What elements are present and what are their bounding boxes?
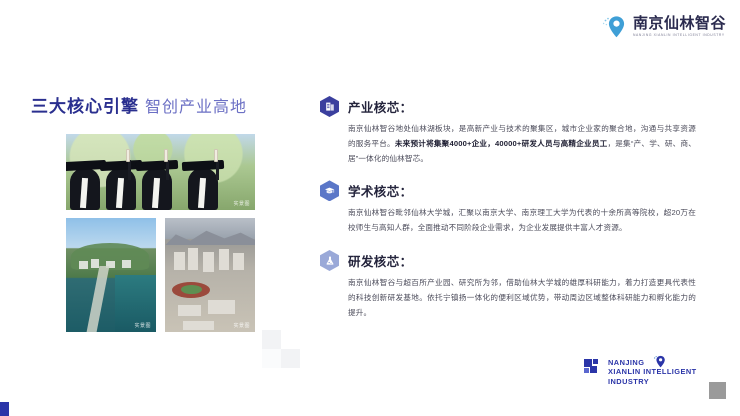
location-pin-icon — [601, 14, 627, 40]
content-block-rnd: 研发核芯： 南京仙林智谷与超百所产业园、研究所为邻，借助仙林大学城的雄厚科研能力… — [320, 250, 696, 320]
research-flask-icon — [320, 250, 339, 271]
decorative-square — [262, 330, 281, 349]
aerial-campus-city-photo: 实景图 — [165, 218, 255, 332]
brand-bottom-text: NANJING XIANLIN INTELLIGENT INDUSTRY — [608, 358, 697, 386]
brand-logo-top: 南京仙林智谷 NANJING XIANLIN INTELLIGENT INDUS… — [601, 14, 726, 40]
photo-collage: 实景图 实景图 实景图 — [66, 134, 255, 332]
block-title: 学术核芯： — [348, 181, 413, 200]
page-title-light: 智创产业高地 — [145, 99, 247, 116]
content-block-academic: 学术核芯： 南京仙林智谷毗邻仙林大学城，汇聚以南京大学、南京理工大学为代表的十余… — [320, 180, 696, 236]
brand-name-en: NANJING XIANLIN INTELLIGENT INDUSTRY — [633, 34, 731, 37]
graduation-cap-icon — [320, 180, 339, 201]
location-pin-icon — [653, 355, 666, 371]
industry-building-icon — [320, 96, 339, 117]
content-block-industry: 产业核芯： 南京仙林智谷地处仙林湖板块，是高新产业与技术的聚集区，城市企业家的聚… — [320, 96, 696, 166]
photo-watermark: 实景图 — [233, 200, 250, 207]
content-column: 产业核芯： 南京仙林智谷地处仙林湖板块，是高新产业与技术的聚集区，城市企业家的聚… — [320, 96, 696, 320]
block-title: 产业核芯： — [348, 97, 413, 116]
corner-gray-square — [709, 382, 726, 399]
photo-row-lower: 实景图 实景图 — [66, 218, 255, 332]
brand-bottom-line1: NANJING — [608, 358, 644, 367]
brand-bottom-line3: INDUSTRY — [608, 377, 649, 386]
block-body: 南京仙林智谷与超百所产业园、研究所为邻，借助仙林大学城的雄厚科研能力，着力打造更… — [320, 276, 696, 320]
graduation-ceremony-photo: 实景图 — [66, 134, 255, 210]
graduation-figures — [66, 162, 255, 210]
block-body: 南京仙林智谷地处仙林湖板块，是高新产业与技术的聚集区，城市企业家的聚合地，沟通与… — [320, 122, 696, 166]
block-body: 南京仙林智谷毗邻仙林大学城，汇聚以南京大学、南京理工大学为代表的十余所高等院校，… — [320, 206, 696, 236]
photo-watermark: 实景图 — [134, 322, 151, 329]
page-title-strong: 三大核心引擎 — [31, 97, 139, 116]
brand-logo-bottom: NANJING XIANLIN INTELLIGENT INDUSTRY — [584, 358, 697, 386]
aerial-river-city-photo: 实景图 — [66, 218, 156, 332]
corner-blue-square — [0, 402, 9, 416]
photo-watermark: 实景图 — [233, 322, 250, 329]
page-title: 三大核心引擎智创产业高地 — [31, 92, 247, 117]
decorative-square — [281, 349, 300, 368]
block-header: 产业核芯： — [320, 96, 696, 117]
block-header: 研发核芯： — [320, 250, 696, 271]
block-title: 研发核芯： — [348, 251, 413, 270]
decorative-square — [262, 349, 281, 368]
brand-name-cn: 南京仙林智谷 — [633, 16, 726, 31]
block-header: 学术核芯： — [320, 180, 696, 201]
brand-squares-mark — [584, 359, 603, 378]
